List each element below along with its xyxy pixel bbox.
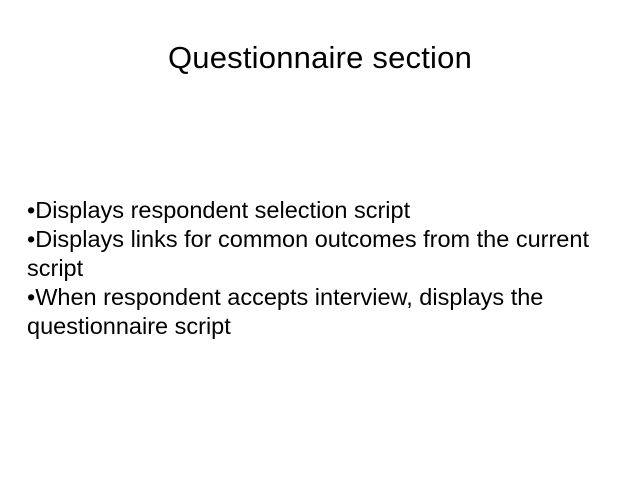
bullet-item-1-label: Displays respondent selection script	[35, 197, 410, 223]
bullet-item-3: •When respondent accepts interview, disp…	[27, 283, 613, 341]
page-title: Questionnaire section	[0, 38, 640, 78]
bullet-point-icon: •	[27, 284, 35, 310]
bullet-item-2: •Displays links for common outcomes from…	[27, 225, 613, 283]
bullet-point-icon: •	[27, 197, 35, 223]
slide-body-text: •Displays respondent selection script •D…	[27, 196, 613, 341]
bullet-item-2-label: Displays links for common outcomes from …	[27, 226, 589, 281]
bullet-point-icon: •	[27, 226, 35, 252]
bullet-item-1: •Displays respondent selection script	[27, 196, 613, 225]
slide-canvas: Questionnaire section •Displays responde…	[0, 0, 640, 480]
bullet-item-3-label: When respondent accepts interview, displ…	[27, 284, 543, 339]
